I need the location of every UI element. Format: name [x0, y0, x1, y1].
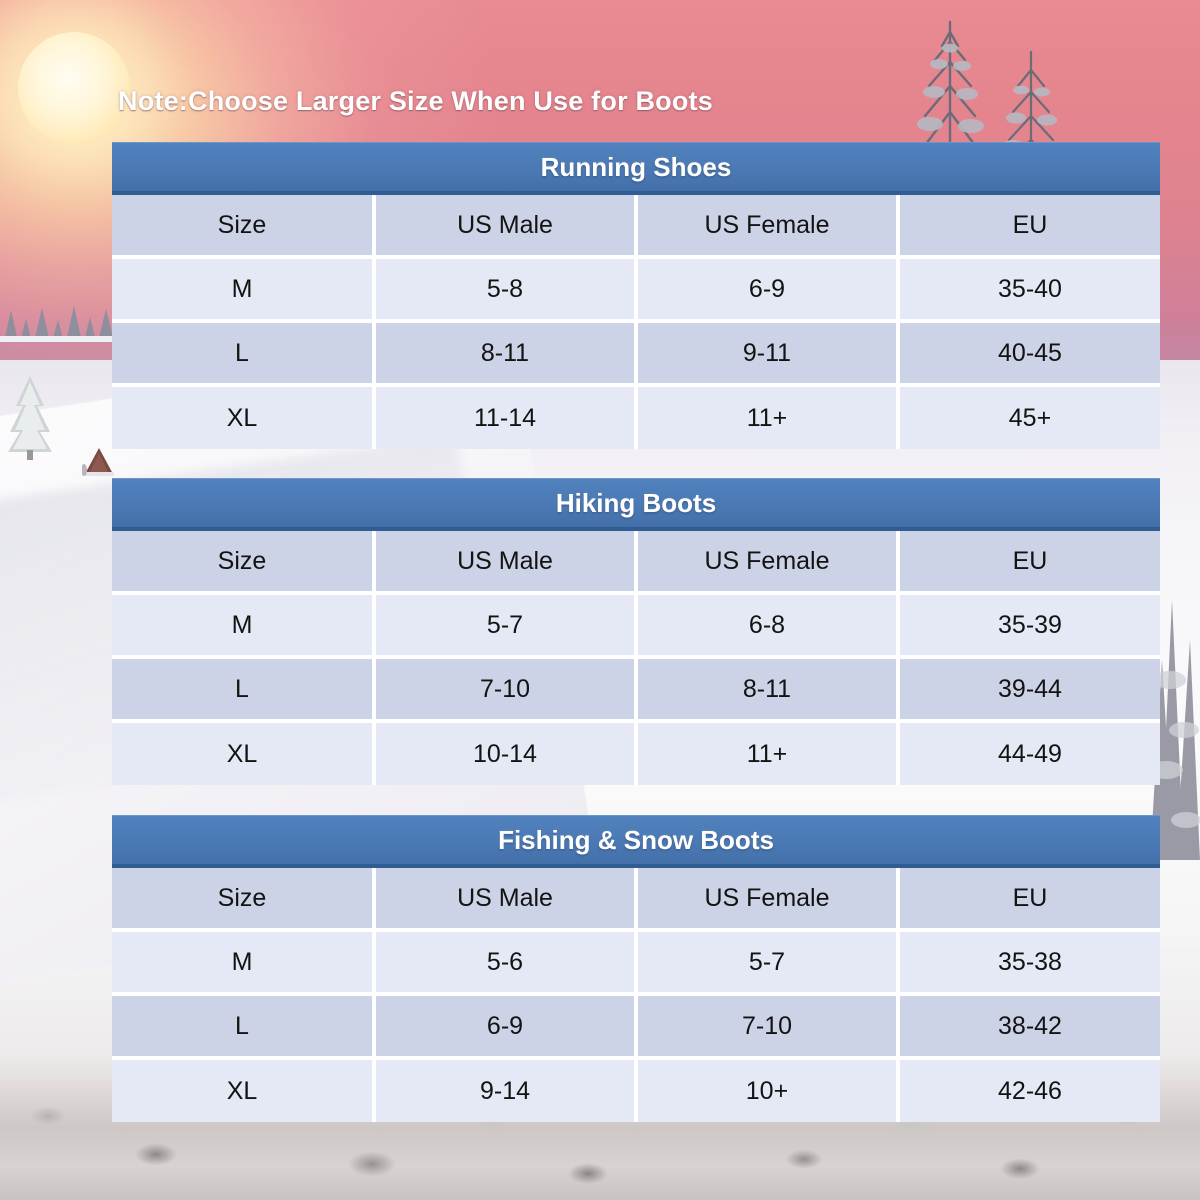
sun-icon [18, 32, 130, 144]
cell-us-female: 8-11 [636, 657, 898, 721]
column-header-size: Size [112, 195, 374, 257]
cell-size: L [112, 657, 374, 721]
cell-eu: 44-49 [898, 721, 1160, 785]
table-row: L 8-11 9-11 40-45 [112, 321, 1160, 385]
table-fishing-snow-boots: Fishing & Snow Boots Size US Male US Fem… [112, 815, 1160, 1122]
cell-eu: 38-42 [898, 994, 1160, 1058]
table-title-running-shoes: Running Shoes [112, 142, 1160, 195]
cell-size: M [112, 257, 374, 321]
cell-us-female: 9-11 [636, 321, 898, 385]
cell-size: L [112, 321, 374, 385]
cell-eu: 45+ [898, 385, 1160, 449]
column-header-us-male: US Male [374, 195, 636, 257]
cell-size: XL [112, 721, 374, 785]
cell-us-female: 7-10 [636, 994, 898, 1058]
cell-us-male: 10-14 [374, 721, 636, 785]
table-row: M 5-8 6-9 35-40 [112, 257, 1160, 321]
table-header-row: Size US Male US Female EU [112, 868, 1160, 930]
cell-us-male: 7-10 [374, 657, 636, 721]
column-header-us-female: US Female [636, 868, 898, 930]
note-text: Note:Choose Larger Size When Use for Boo… [118, 86, 713, 117]
cell-us-female: 11+ [636, 721, 898, 785]
table-row: L 7-10 8-11 39-44 [112, 657, 1160, 721]
cell-us-male: 6-9 [374, 994, 636, 1058]
cell-us-female: 5-7 [636, 930, 898, 994]
cell-eu: 35-40 [898, 257, 1160, 321]
size-grid-hiking-boots: Size US Male US Female EU M 5-7 6-8 35-3… [112, 531, 1160, 785]
table-row: XL 11-14 11+ 45+ [112, 385, 1160, 449]
cell-size: XL [112, 1058, 374, 1122]
cell-us-male: 8-11 [374, 321, 636, 385]
cell-us-male: 5-8 [374, 257, 636, 321]
cell-eu: 35-38 [898, 930, 1160, 994]
table-row: M 5-6 5-7 35-38 [112, 930, 1160, 994]
size-chart-image: Note:Choose Larger Size When Use for Boo… [0, 0, 1200, 1200]
column-header-eu: EU [898, 531, 1160, 593]
column-header-us-female: US Female [636, 195, 898, 257]
cell-size: XL [112, 385, 374, 449]
table-header-row: Size US Male US Female EU [112, 195, 1160, 257]
size-grid-fishing-snow-boots: Size US Male US Female EU M 5-6 5-7 35-3… [112, 868, 1160, 1122]
cabin-icon [82, 446, 116, 476]
cell-us-male: 11-14 [374, 385, 636, 449]
cell-us-male: 9-14 [374, 1058, 636, 1122]
table-running-shoes: Running Shoes Size US Male US Female EU … [112, 142, 1160, 449]
cell-us-male: 5-6 [374, 930, 636, 994]
table-title-fishing-snow-boots: Fishing & Snow Boots [112, 815, 1160, 868]
column-header-size: Size [112, 868, 374, 930]
cell-us-female: 11+ [636, 385, 898, 449]
table-header-row: Size US Male US Female EU [112, 531, 1160, 593]
table-title-hiking-boots: Hiking Boots [112, 478, 1160, 531]
cell-eu: 40-45 [898, 321, 1160, 385]
table-row: L 6-9 7-10 38-42 [112, 994, 1160, 1058]
size-grid-running-shoes: Size US Male US Female EU M 5-8 6-9 35-4… [112, 195, 1160, 449]
cell-eu: 42-46 [898, 1058, 1160, 1122]
column-header-eu: EU [898, 195, 1160, 257]
cell-size: M [112, 593, 374, 657]
cell-size: M [112, 930, 374, 994]
cell-eu: 35-39 [898, 593, 1160, 657]
column-header-size: Size [112, 531, 374, 593]
snowy-pine-tree-icon [2, 372, 58, 464]
table-row: XL 9-14 10+ 42-46 [112, 1058, 1160, 1122]
cell-eu: 39-44 [898, 657, 1160, 721]
cell-us-female: 6-8 [636, 593, 898, 657]
column-header-eu: EU [898, 868, 1160, 930]
cell-size: L [112, 994, 374, 1058]
cell-us-female: 10+ [636, 1058, 898, 1122]
cell-us-male: 5-7 [374, 593, 636, 657]
table-hiking-boots: Hiking Boots Size US Male US Female EU M… [112, 478, 1160, 785]
cell-us-female: 6-9 [636, 257, 898, 321]
column-header-us-male: US Male [374, 868, 636, 930]
column-header-us-female: US Female [636, 531, 898, 593]
table-row: XL 10-14 11+ 44-49 [112, 721, 1160, 785]
column-header-us-male: US Male [374, 531, 636, 593]
table-row: M 5-7 6-8 35-39 [112, 593, 1160, 657]
